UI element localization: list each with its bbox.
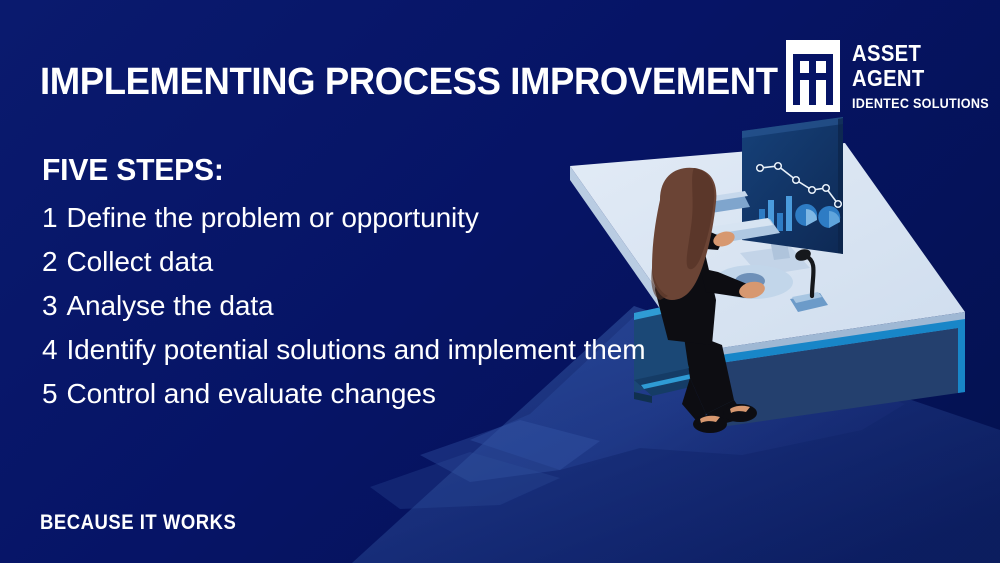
step-text: Identify potential solutions and impleme… <box>66 328 645 372</box>
keyboard <box>694 218 780 246</box>
list-item: 1 Define the problem or opportunity <box>42 196 645 240</box>
five-steps-block: FIVE STEPS: 1 Define the problem or oppo… <box>42 152 645 416</box>
logo-subtitle: IDENTEC SOLUTIONS <box>852 93 989 113</box>
step-text: Define the problem or opportunity <box>66 196 478 240</box>
step-text: Control and evaluate changes <box>66 372 435 416</box>
office-chair <box>634 300 712 403</box>
asset-agent-monogram-icon <box>786 40 840 112</box>
mousepad <box>713 265 793 299</box>
step-number: 3 <box>42 284 57 328</box>
slide-canvas: IMPLEMENTING PROCESS IMPROVEMENT ASSET A… <box>0 0 1000 563</box>
screen-bar-chart <box>759 196 792 231</box>
list-item: 5 Control and evaluate changes <box>42 372 645 416</box>
logo-line-1: ASSET <box>852 41 986 66</box>
person-seated <box>651 168 766 433</box>
screen-line-chart <box>757 163 842 208</box>
list-item: 3 Analyse the data <box>42 284 645 328</box>
list-item: 4 Identify potential solutions and imple… <box>42 328 645 372</box>
step-text: Collect data <box>66 240 213 284</box>
smartphone <box>704 191 750 213</box>
logo-wordmark: ASSET AGENT IDENTEC SOLUTIONS <box>852 40 1000 113</box>
logo-line-2: AGENT <box>852 66 986 91</box>
step-number: 1 <box>42 196 57 240</box>
list-item: 2 Collect data <box>42 240 645 284</box>
desk-lamp <box>790 247 828 312</box>
steps-list: 1 Define the problem or opportunity 2 Co… <box>42 196 645 416</box>
brand-logo: ASSET AGENT IDENTEC SOLUTIONS <box>786 40 1000 113</box>
page-title: IMPLEMENTING PROCESS IMPROVEMENT <box>40 63 778 102</box>
step-number: 4 <box>42 328 57 372</box>
footer-tagline: BECAUSE IT WORKS <box>40 511 236 535</box>
monitor <box>740 117 843 276</box>
step-text: Analyse the data <box>66 284 273 328</box>
mouse <box>735 273 765 289</box>
step-number: 5 <box>42 372 57 416</box>
steps-heading: FIVE STEPS: <box>42 152 627 188</box>
step-number: 2 <box>42 240 57 284</box>
screen-pie-chart <box>795 204 840 228</box>
